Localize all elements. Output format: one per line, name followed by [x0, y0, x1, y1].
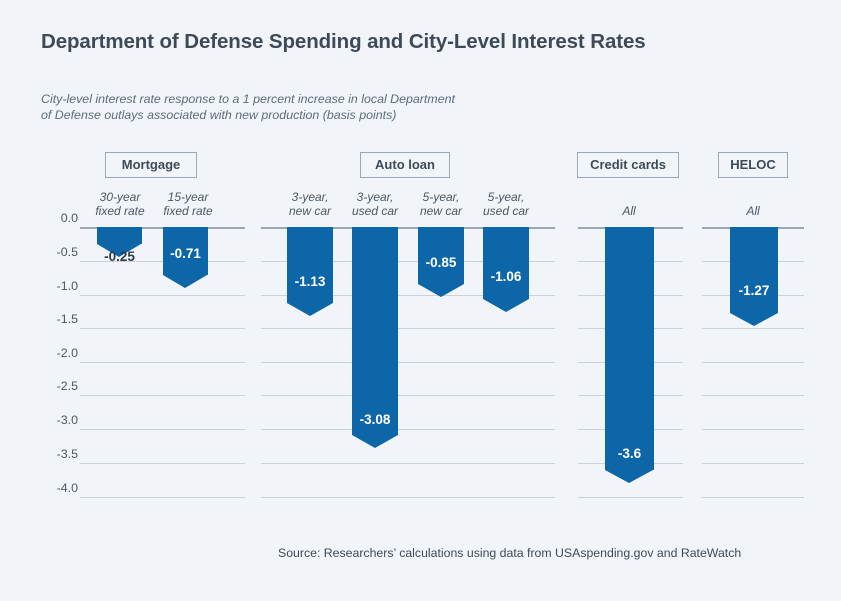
category-label: 30-year fixed rate: [86, 190, 154, 218]
y-tick-label: -1.0: [57, 279, 78, 293]
group-label-credit-cards: Credit cards: [577, 152, 679, 178]
gridline: [80, 395, 245, 396]
gridline: [702, 395, 804, 396]
category-label: 5-year, new car: [407, 190, 475, 218]
gridline: [80, 362, 245, 363]
chart-title: Department of Defense Spending and City-…: [41, 30, 646, 54]
bar-mortgage-30yr: [97, 227, 142, 244]
category-label: 3-year, new car: [276, 190, 344, 218]
gridline: [702, 429, 804, 430]
bar-value-label: -0.25: [87, 249, 152, 264]
gridline: [702, 497, 804, 498]
chart-subtitle: City-level interest rate response to a 1…: [41, 92, 455, 123]
gridline: [261, 463, 555, 464]
bar-auto-5yr-used: [483, 227, 529, 299]
gridline: [80, 429, 245, 430]
gridline: [261, 362, 555, 363]
group-label-mortgage: Mortgage: [105, 152, 197, 178]
y-tick-label: -2.5: [57, 379, 78, 393]
bar-point: [483, 299, 529, 312]
gridline: [702, 328, 804, 329]
bar-point: [730, 313, 778, 326]
bar-value-label: -1.13: [277, 274, 343, 289]
y-tick-label: -3.5: [57, 447, 78, 461]
y-tick-label: -0.5: [57, 245, 78, 259]
gridline: [80, 295, 245, 296]
category-label: All: [595, 204, 663, 218]
gridline: [702, 463, 804, 464]
gridline: [578, 497, 683, 498]
gridline: [261, 395, 555, 396]
bar-point: [352, 435, 398, 448]
gridline: [80, 497, 245, 498]
bar-credit-cards-all: [605, 227, 654, 470]
bar-point: [163, 275, 207, 288]
y-tick-label: -1.5: [57, 312, 78, 326]
bar-value-label: -3.6: [595, 446, 664, 461]
bar-auto-3yr-used: [352, 227, 398, 435]
category-label: All: [719, 204, 787, 218]
gridline: [80, 328, 245, 329]
bar-value-label: -1.06: [473, 269, 539, 284]
y-tick-label: -3.0: [57, 413, 78, 427]
y-tick-label: 0.0: [61, 211, 78, 225]
gridline: [261, 328, 555, 329]
bar-point: [605, 470, 653, 483]
source-note: Source: Researchers’ calculations using …: [278, 546, 741, 560]
bar-heloc-all: [730, 227, 778, 313]
gridline: [261, 429, 555, 430]
group-label-heloc: HELOC: [718, 152, 788, 178]
gridline: [261, 497, 555, 498]
chart-figure: Department of Defense Spending and City-…: [0, 0, 841, 601]
y-tick-label: -2.0: [57, 346, 78, 360]
bar-value-label: -0.85: [408, 255, 474, 270]
bar-point: [418, 284, 464, 297]
y-tick-label: -4.0: [57, 481, 78, 495]
bar-point: [287, 303, 333, 316]
bar-auto-3yr-new: [287, 227, 333, 303]
gridline: [702, 362, 804, 363]
group-label-auto-loan: Auto loan: [360, 152, 450, 178]
gridline: [80, 463, 245, 464]
category-label: 3-year, used car: [341, 190, 409, 218]
bar-value-label: -1.27: [719, 283, 789, 298]
category-label: 5-year, used car: [472, 190, 540, 218]
bar-value-label: -0.71: [153, 246, 218, 261]
bar-value-label: -3.08: [342, 412, 408, 427]
category-label: 15-year fixed rate: [154, 190, 222, 218]
